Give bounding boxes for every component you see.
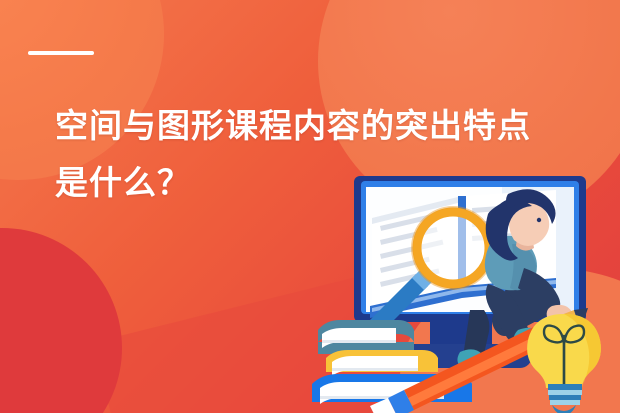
- book-stack-middle: [326, 350, 438, 376]
- poster-canvas: 空间与图形课程内容的突出特点 是什么？: [0, 0, 620, 413]
- person-eye: [537, 218, 541, 222]
- accent-rule: [28, 51, 94, 55]
- bulb-base: [548, 384, 582, 413]
- lightbulb-icon: [527, 314, 601, 413]
- student-studying-illustration: [312, 168, 620, 413]
- book-stack-top: [318, 320, 414, 354]
